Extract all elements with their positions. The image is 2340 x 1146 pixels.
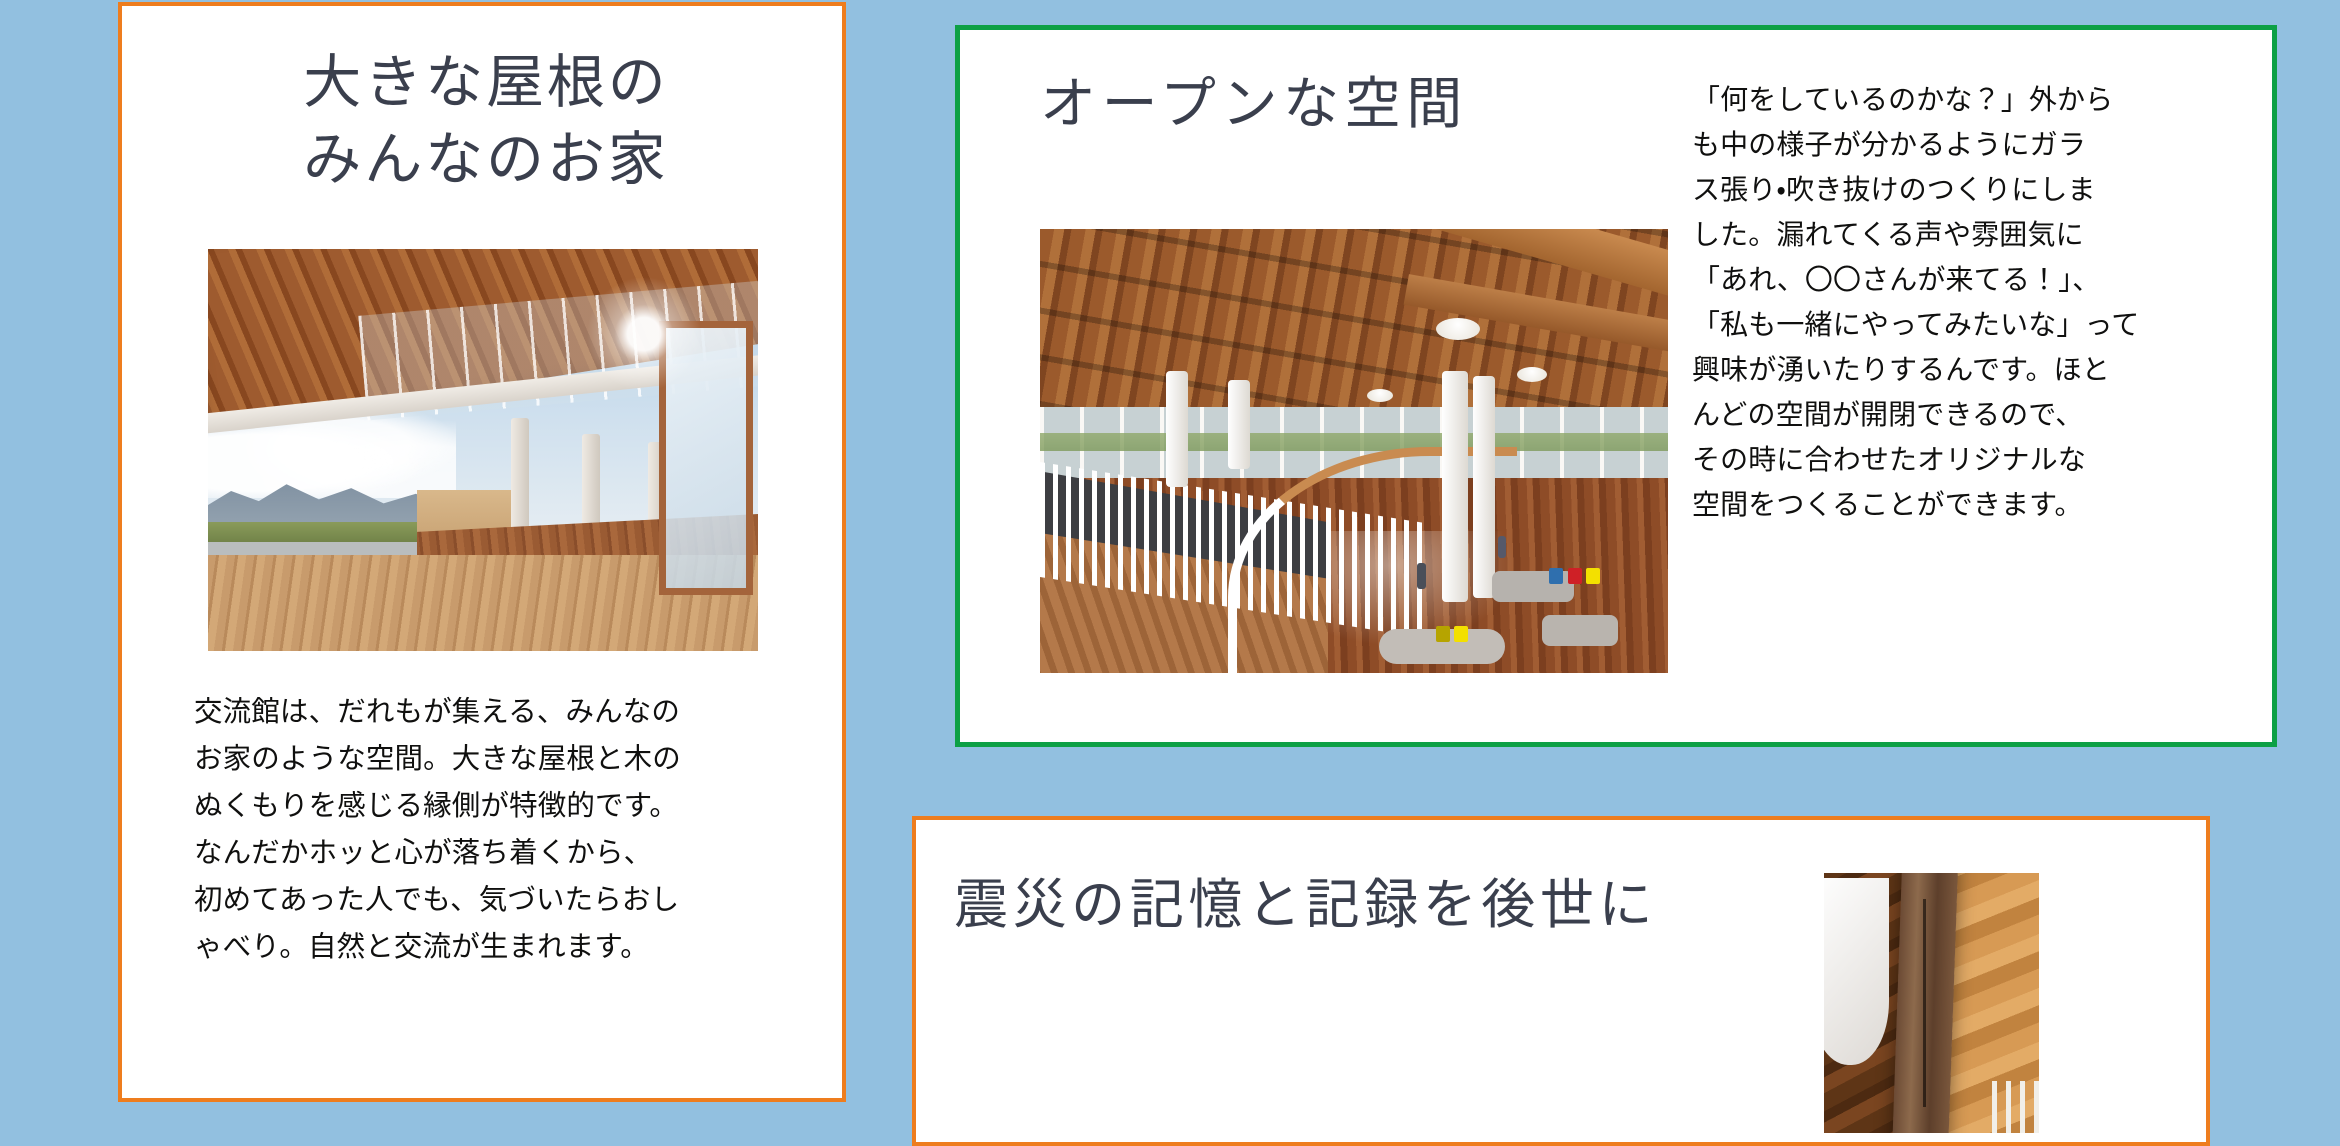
body-line: 空間をつくることができます。 — [1692, 482, 2212, 527]
body-line: 「あれ、〇〇さんが来てる！」、 — [1692, 257, 2212, 302]
body-line: した。漏れてくる声や雰囲気に — [1692, 212, 2212, 257]
body-line: 「私も一緒にやってみたいな」って — [1692, 302, 2212, 347]
body-line: その時に合わせたオリジナルな — [1692, 437, 2212, 482]
panel-big-roof-heading: 大きな屋根の みんなのお家 — [186, 44, 786, 198]
exterior-veranda-photo — [208, 249, 758, 651]
old-timber-post-photo-art — [1824, 873, 2039, 1133]
heading-line: 震災の記憶と記録を後世に — [954, 869, 1734, 941]
body-line: ス張り・吹き抜けのつくりにしま — [1692, 167, 2212, 212]
heading-line: 大きな屋根の — [186, 44, 786, 121]
old-timber-post-photo — [1824, 873, 2039, 1133]
heading-line: オープンな空間 — [1040, 68, 1660, 142]
body-line: 交流館は、だれもが集える、みんなの — [194, 688, 794, 735]
interior-atrium-photo-art — [1040, 229, 1668, 673]
body-line: ゃべり。自然と交流が生まれます。 — [194, 923, 794, 970]
panel-big-roof-body: 交流館は、だれもが集える、みんなの お家のような空間。大きな屋根と木の ぬくもり… — [194, 688, 794, 970]
body-line: お家のような空間。大きな屋根と木の — [194, 735, 794, 782]
heading-line: みんなのお家 — [186, 121, 786, 198]
body-line: 「何をしているのかな？」外から — [1692, 77, 2212, 122]
body-line: んどの空間が開閉できるので、 — [1692, 392, 2212, 437]
body-line: 初めてあった人でも、気づいたらおし — [194, 876, 794, 923]
body-line: ぬくもりを感じる縁側が特徴的です。 — [194, 782, 794, 829]
body-line: なんだかホッと心が落ち着くから、 — [194, 829, 794, 876]
panel-big-roof: 大きな屋根の みんなのお家 — [118, 2, 846, 1102]
panel-quake-memory-heading: 震災の記憶と記録を後世に — [954, 869, 1734, 941]
panel-open-space-heading: オープンな空間 — [1040, 68, 1660, 142]
panel-open-space-body: 「何をしているのかな？」外から も中の様子が分かるようにガラ ス張り・吹き抜けの… — [1692, 77, 2212, 527]
panel-quake-memory: 震災の記憶と記録を後世に — [912, 816, 2210, 1146]
body-line: 興味が湧いたりするんです。ほと — [1692, 347, 2212, 392]
page-canvas: 大きな屋根の みんなのお家 — [0, 0, 2340, 1016]
panel-open-space: オープンな空間 — [955, 25, 2277, 747]
interior-atrium-photo — [1040, 229, 1668, 673]
body-line: も中の様子が分かるようにガラ — [1692, 122, 2212, 167]
exterior-veranda-photo-art — [208, 249, 758, 651]
